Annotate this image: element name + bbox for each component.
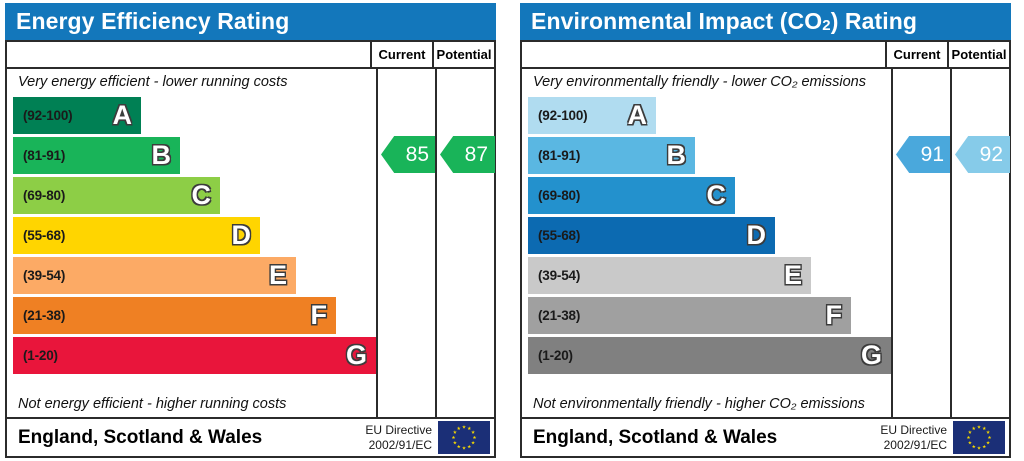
band-bar-d: (55-68)D <box>528 217 775 254</box>
footer-bar-left: England, Scotland & Wales EU Directive 2… <box>5 419 496 458</box>
column-header-potential: Potential <box>947 42 1009 67</box>
chart-body-row: Very environmentally friendly - lower CO… <box>522 69 1009 417</box>
eu-star <box>467 445 471 449</box>
band-range-a: (92-100) <box>528 108 587 123</box>
column-header-spacer <box>522 42 885 67</box>
eu-star <box>982 426 986 430</box>
directive-line-1: EU Directive <box>880 423 947 437</box>
eu-star <box>968 441 972 445</box>
eu-star <box>471 430 475 434</box>
band-letter-b: B <box>667 142 687 169</box>
band-bar-g: (1-20)G <box>13 337 376 374</box>
eu-star <box>471 441 475 445</box>
potential-value-column: 92 <box>950 69 1009 417</box>
current-rating-value: 85 <box>406 143 429 167</box>
footer-bar-right: England, Scotland & Wales EU Directive 2… <box>520 419 1011 458</box>
column-header-row: Current Potential <box>522 42 1009 69</box>
band-row-d: (55-68)D <box>7 215 376 255</box>
environmental-impact-title-text: Environmental Impact (CO <box>531 8 822 35</box>
potential-rating-value: 87 <box>465 143 488 167</box>
band-range-g: (1-20) <box>13 348 58 363</box>
eu-star <box>986 441 990 445</box>
eu-star <box>986 430 990 434</box>
band-bar-e: (39-54)E <box>528 257 811 294</box>
band-range-b: (81-91) <box>13 148 65 163</box>
band-row-a: (92-100)A <box>7 95 376 135</box>
caption-top: Very energy efficient - lower running co… <box>7 69 376 95</box>
co2-subscript: 2 <box>822 17 830 34</box>
eu-star <box>473 436 477 440</box>
band-letter-f: F <box>826 302 843 329</box>
band-row-b: (81-91)B <box>7 135 376 175</box>
band-row-d: (55-68)D <box>522 215 891 255</box>
footer-region-label: England, Scotland & Wales <box>522 427 880 449</box>
band-row-c: (69-80)C <box>7 175 376 215</box>
band-range-g: (1-20) <box>528 348 573 363</box>
caption-bottom: Not energy efficient - higher running co… <box>7 391 376 417</box>
band-row-g: (1-20)G <box>7 335 376 375</box>
band-range-e: (39-54) <box>528 268 580 283</box>
band-letter-b: B <box>152 142 172 169</box>
current-rating-arrow: 91 <box>896 136 951 173</box>
chart-body-row: Very energy efficient - lower running co… <box>7 69 494 417</box>
energy-efficiency-title: Energy Efficiency Rating <box>5 3 496 40</box>
environmental-impact-grid: Current Potential Very environmentally f… <box>520 40 1011 419</box>
band-bar-c: (69-80)C <box>13 177 220 214</box>
eu-star <box>462 446 466 450</box>
band-bar-c: (69-80)C <box>528 177 735 214</box>
directive-line-2: 2002/91/EC <box>880 438 947 452</box>
band-row-f: (21-38)F <box>7 295 376 335</box>
band-bars-right: (92-100)A(81-91)B(69-80)C(55-68)D(39-54)… <box>522 95 891 391</box>
eu-star <box>977 425 981 429</box>
band-range-f: (21-38) <box>13 308 65 323</box>
eu-star <box>972 426 976 430</box>
band-letter-g: G <box>346 342 367 369</box>
eu-star <box>982 445 986 449</box>
band-letter-e: E <box>269 262 287 289</box>
current-value-column: 91 <box>891 69 950 417</box>
band-letter-a: A <box>628 102 648 129</box>
potential-rating-value: 92 <box>980 143 1003 167</box>
band-letter-d: D <box>747 222 767 249</box>
band-row-e: (39-54)E <box>7 255 376 295</box>
caption-top: Very environmentally friendly - lower CO… <box>522 69 891 95</box>
eu-star <box>977 446 981 450</box>
directive-line-1: EU Directive <box>365 423 432 437</box>
energy-efficiency-title-text: Energy Efficiency Rating <box>16 8 289 35</box>
band-row-f: (21-38)F <box>522 295 891 335</box>
caption-bottom: Not environmentally friendly - higher CO… <box>522 391 891 417</box>
eu-star <box>968 430 972 434</box>
band-bar-b: (81-91)B <box>528 137 695 174</box>
band-letter-d: D <box>232 222 252 249</box>
band-bar-d: (55-68)D <box>13 217 260 254</box>
footer-directive: EU Directive 2002/91/EC <box>365 423 438 451</box>
eu-star <box>452 436 456 440</box>
column-header-spacer <box>7 42 370 67</box>
band-bar-a: (92-100)A <box>528 97 656 134</box>
eu-star <box>967 436 971 440</box>
band-range-c: (69-80) <box>13 188 65 203</box>
potential-value-column: 87 <box>435 69 494 417</box>
band-row-a: (92-100)A <box>522 95 891 135</box>
band-range-a: (92-100) <box>13 108 72 123</box>
energy-efficiency-grid: Current Potential Very energy efficient … <box>5 40 496 419</box>
band-bar-f: (21-38)F <box>13 297 336 334</box>
band-letter-e: E <box>784 262 802 289</box>
current-value-column: 85 <box>376 69 435 417</box>
eu-flag-icon <box>438 421 490 454</box>
band-bar-f: (21-38)F <box>528 297 851 334</box>
energy-efficiency-panel: Energy Efficiency Rating Current Potenti… <box>5 3 496 458</box>
band-range-f: (21-38) <box>528 308 580 323</box>
eu-star <box>972 445 976 449</box>
environmental-impact-title: Environmental Impact (CO2) Rating <box>520 3 1011 40</box>
eu-star <box>467 426 471 430</box>
band-range-d: (55-68) <box>528 228 580 243</box>
band-bar-g: (1-20)G <box>528 337 891 374</box>
current-rating-arrow: 85 <box>381 136 436 173</box>
band-range-d: (55-68) <box>13 228 65 243</box>
column-header-current: Current <box>370 42 432 67</box>
band-bar-b: (81-91)B <box>13 137 180 174</box>
directive-line-2: 2002/91/EC <box>365 438 432 452</box>
band-row-c: (69-80)C <box>522 175 891 215</box>
potential-rating-arrow: 87 <box>440 136 495 173</box>
band-bar-a: (92-100)A <box>13 97 141 134</box>
band-letter-a: A <box>113 102 133 129</box>
band-letter-c: C <box>192 182 212 209</box>
eu-star <box>457 445 461 449</box>
eu-star <box>462 425 466 429</box>
current-rating-value: 91 <box>921 143 944 167</box>
band-chart-column: Very environmentally friendly - lower CO… <box>522 69 891 417</box>
epc-rating-page: Energy Efficiency Rating Current Potenti… <box>0 0 1024 461</box>
column-header-potential: Potential <box>432 42 494 67</box>
band-range-b: (81-91) <box>528 148 580 163</box>
footer-directive: EU Directive 2002/91/EC <box>880 423 953 451</box>
band-bar-e: (39-54)E <box>13 257 296 294</box>
band-row-e: (39-54)E <box>522 255 891 295</box>
column-header-current: Current <box>885 42 947 67</box>
band-range-e: (39-54) <box>13 268 65 283</box>
eu-flag-icon <box>953 421 1005 454</box>
band-bars-left: (92-100)A(81-91)B(69-80)C(55-68)D(39-54)… <box>7 95 376 391</box>
band-range-c: (69-80) <box>528 188 580 203</box>
band-row-b: (81-91)B <box>522 135 891 175</box>
eu-star <box>453 430 457 434</box>
band-letter-f: F <box>311 302 328 329</box>
band-row-g: (1-20)G <box>522 335 891 375</box>
environmental-impact-title-tail: ) Rating <box>831 8 917 35</box>
environmental-impact-panel: Environmental Impact (CO2) Rating Curren… <box>520 3 1011 458</box>
footer-region-label: England, Scotland & Wales <box>7 427 365 449</box>
eu-star <box>457 426 461 430</box>
potential-rating-arrow: 92 <box>955 136 1010 173</box>
eu-star <box>988 436 992 440</box>
eu-star <box>453 441 457 445</box>
column-header-row: Current Potential <box>7 42 494 69</box>
band-chart-column: Very energy efficient - lower running co… <box>7 69 376 417</box>
band-letter-g: G <box>861 342 882 369</box>
band-letter-c: C <box>707 182 727 209</box>
